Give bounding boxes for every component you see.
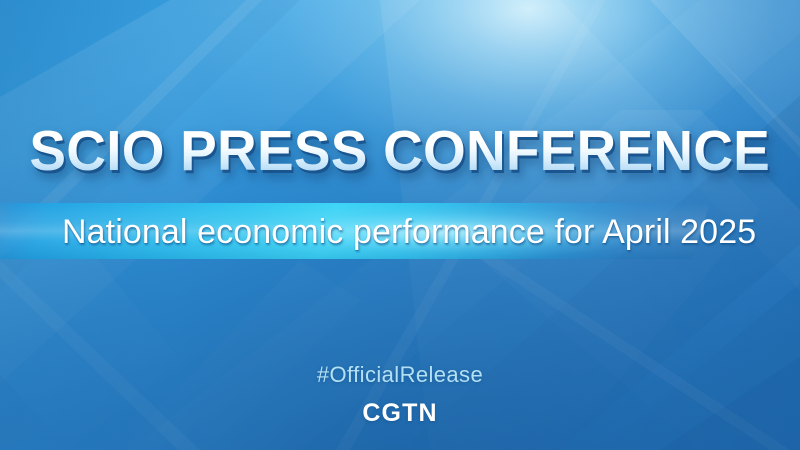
hashtag-label: #OfficialRelease	[0, 362, 800, 388]
press-conference-slide: SCIO PRESS CONFERENCE National economic …	[0, 0, 800, 450]
page-title: SCIO PRESS CONFERENCE	[30, 123, 771, 180]
brand-logo-text: CGTN	[0, 399, 800, 428]
title-row: SCIO PRESS CONFERENCE	[0, 123, 800, 180]
subtitle: National economic performance for April …	[62, 212, 756, 252]
